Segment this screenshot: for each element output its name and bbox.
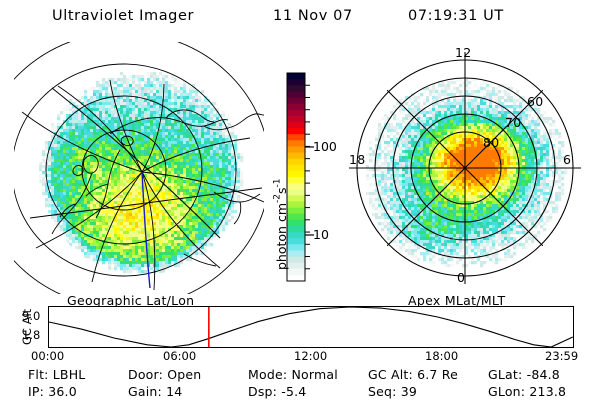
footer-field-key: IP: [28,384,44,399]
mlt-label-18: 18 [349,152,366,167]
orbit-ytick-bottom: 1.8 [22,328,40,342]
header-instrument: Ultraviolet Imager [52,8,194,24]
uvi-display: Ultraviolet Imager 11 Nov 07 07:19:31 UT… [0,0,600,400]
mlat-label-60: 60 [527,94,544,109]
footer-field-value: Open [163,367,201,382]
footer-field-value: LBHL [49,367,86,382]
footer-field-value: -84.8 [522,367,560,382]
footer-field-gc-alt: GC Alt: 6.7 Re [368,367,458,382]
footer-field-key: Seq: [368,384,397,399]
footer-field-key: Mode: [248,367,287,382]
geographic-panel[interactable] [14,42,264,294]
footer-field-value: 36.0 [44,384,77,399]
footer-field-value: 6.7 Re [413,367,458,382]
mlat-mlt-grid [349,52,581,284]
footer-field-key: Door: [128,367,163,382]
footer-field-value: 213.8 [525,384,566,399]
mlat-label-80: 80 [483,135,500,150]
footer-field-key: Flt: [28,367,49,382]
orbit-xtick-1200: 12:00 [294,349,327,363]
apex-plot[interactable] [337,42,593,294]
footer-field-ip: IP: 36.0 [28,384,77,399]
orbit-xtick-1800: 18:00 [425,349,458,363]
colorbar-exponent-2: -1 [273,179,283,188]
orbit-xtick-0600: 06:00 [163,349,196,363]
colorbar-tick-label-100: 100 [313,139,337,154]
colorbar-axis-label-text: photon cm [274,203,289,270]
colorbar-tick-label-10: 10 [313,227,329,242]
footer-field-value: 39 [397,384,417,399]
footer-field-key: Dsp: [248,384,277,399]
footer-field-value: -5.4 [277,384,306,399]
footer-field-key: GC Alt: [368,367,413,382]
orbit-plot[interactable] [48,306,574,348]
mlt-label-0: 0 [457,270,465,285]
footer-field-mode: Mode: Normal [248,367,338,382]
footer-row-1: Flt: LBHLDoor: OpenMode: NormalGC Alt: 6… [0,367,600,383]
footer-field-seq: Seq: 39 [368,384,417,399]
mlt-label-6: 6 [563,152,571,167]
footer-field-key: Gain: [128,384,162,399]
footer-field-door: Door: Open [128,367,201,382]
footer-field-value: Normal [287,367,338,382]
header-date: 11 Nov 07 [273,8,353,24]
colorbar-axis-label-mid: s [274,188,289,195]
geographic-plot[interactable] [14,42,264,294]
footer-field-flt: Flt: LBHL [28,367,85,382]
footer-field-key: GLon: [488,384,525,399]
orbit-ytick-top: 9.0 [22,309,40,323]
mlt-label-12: 12 [455,45,472,60]
colorbar-group[interactable]: photon cm-2s-1 100 10 [255,60,350,295]
footer-field-glat: GLat: -84.8 [488,367,560,382]
footer-field-key: GLat: [488,367,522,382]
footer-row-2: IP: 36.0Gain: 14Dsp: -5.4Seq: 39GLon: 21… [0,384,600,400]
colorbar-axis-label: photon cm-2s-1 [271,179,290,270]
orbit-plot-frame [49,307,574,348]
header-time: 07:19:31 UT [408,8,504,24]
orbit-xtick-2359: 23:59 [545,349,578,363]
colorbar[interactable] [255,60,350,295]
orbit-xtick-0000: 00:00 [31,349,64,363]
apex-panel[interactable]: 12 6 18 0 60 70 80 [337,42,593,294]
mlat-label-70: 70 [505,115,522,130]
footer-field-gain: Gain: 14 [128,384,182,399]
footer-field-dsp: Dsp: -5.4 [248,384,306,399]
footer-field-glon: GLon: 213.8 [488,384,566,399]
orbit-track-svg[interactable] [48,306,574,348]
colorbar-exponent-1: -2 [273,194,283,203]
footer-field-value: 14 [162,384,182,399]
